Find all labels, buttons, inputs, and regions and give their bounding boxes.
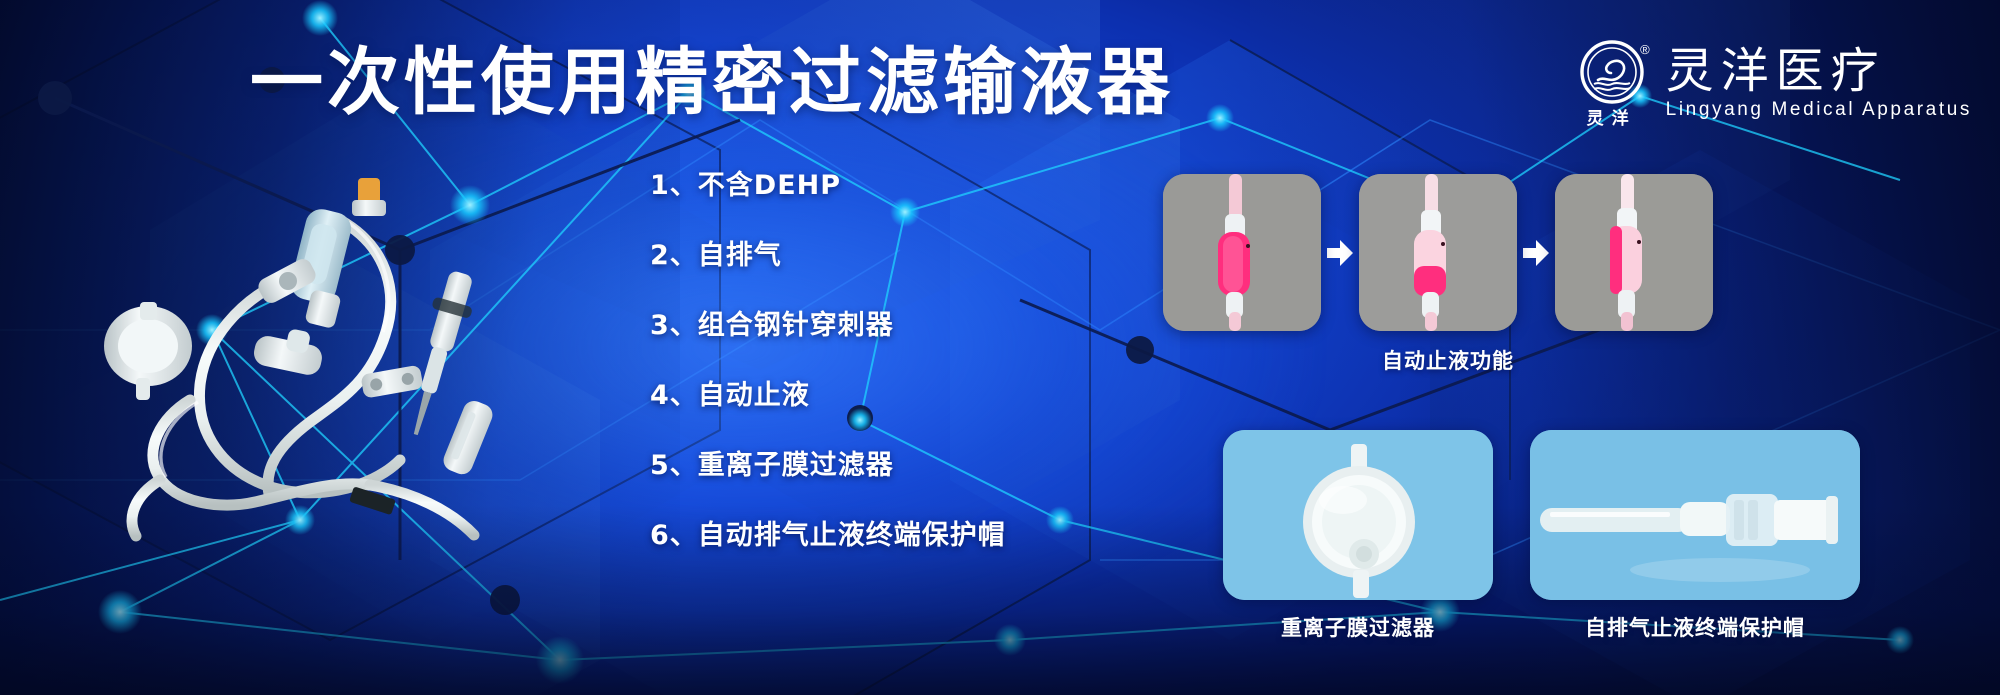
caption-text: 重离子膜过滤器 <box>1281 616 1435 640</box>
product-banner: 一次性使用精密过滤输液器 ® 灵洋 灵洋医疗 Lingyang Medical … <box>0 0 2000 695</box>
sequence-caption: 自动止液功能 <box>1163 345 1733 375</box>
brand-logo: ® 灵洋 灵洋医疗 Lingyang Medical Apparatus <box>1576 40 1972 128</box>
panel-caption-terminal-cap: 自排气止液终端保护帽 <box>1530 612 1860 642</box>
feature-item: 6、自动排气止液终端保护帽 <box>650 520 1090 552</box>
logo-emblem: ® 灵洋 <box>1576 40 1648 128</box>
company-name-en: Lingyang Medical Apparatus <box>1666 97 1972 123</box>
feature-item: 3、组合钢针穿刺器 <box>650 310 1090 342</box>
feature-item: 5、重离子膜过滤器 <box>650 450 1090 482</box>
feature-item: 2、自排气 <box>650 240 1090 272</box>
panel-photo-terminal-cap <box>1530 430 1860 600</box>
auto-stop-sequence <box>1163 174 1713 331</box>
sequence-arrow-icon <box>1321 239 1359 267</box>
panel-photo-filter <box>1223 430 1493 600</box>
sequence-photo-2 <box>1359 174 1517 331</box>
sequence-photo-3 <box>1555 174 1713 331</box>
page-title: 一次性使用精密过滤输液器 <box>250 40 1040 126</box>
registered-trademark-icon: ® <box>1640 42 1650 57</box>
brand-text: 灵洋医疗 Lingyang Medical Apparatus <box>1666 45 1972 123</box>
logo-circle-icon <box>1580 40 1644 104</box>
feature-list: 1、不含DEHP 2、自排气 3、组合钢针穿刺器 4、自动止液 5、重离子膜过滤… <box>650 170 1090 590</box>
feature-item: 1、不含DEHP <box>650 170 1090 202</box>
feature-item: 4、自动止液 <box>650 380 1090 412</box>
caption-text: 自排气止液终端保护帽 <box>1585 616 1805 640</box>
sequence-photo-1 <box>1163 174 1321 331</box>
logo-mark-text: 灵洋 <box>1576 104 1648 129</box>
product-photo-infusion-set <box>40 150 660 550</box>
panel-caption-filter: 重离子膜过滤器 <box>1223 612 1493 642</box>
company-name-cn: 灵洋医疗 <box>1666 45 1972 97</box>
sequence-arrow-icon <box>1517 239 1555 267</box>
